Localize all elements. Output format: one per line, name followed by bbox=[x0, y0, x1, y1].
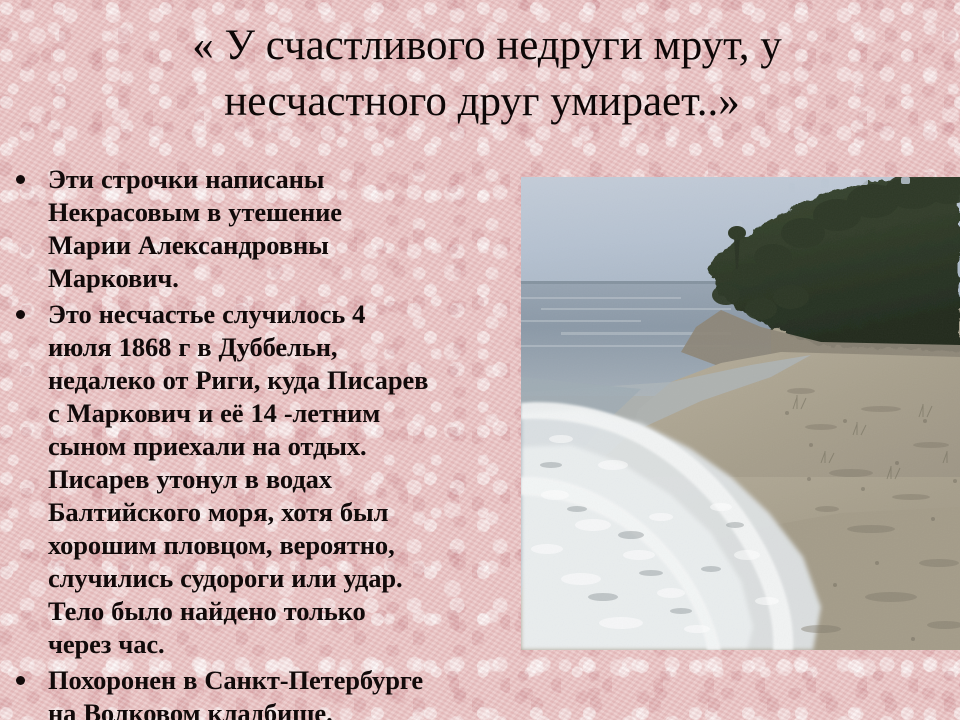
beach-photograph-image bbox=[521, 177, 960, 650]
slide-title: « У счастливого недруги мрут, у несчастн… bbox=[38, 18, 922, 130]
list-item-line: Писарев утонул в водах bbox=[48, 463, 514, 496]
bullet-list: Эти строчки написаны Некрасовым в утешен… bbox=[8, 163, 514, 720]
list-item-line: сыном приехали на отдых. bbox=[48, 430, 514, 463]
list-item-line: случились судороги или удар. bbox=[48, 562, 514, 595]
list-item: Это несчастье случилось 4 июля 1868 г в … bbox=[8, 298, 514, 661]
list-item-line: Эти строчки написаны bbox=[48, 163, 514, 196]
list-item-line: Балтийского моря, хотя был bbox=[48, 496, 514, 529]
list-item-line: Это несчастье случилось 4 bbox=[48, 298, 514, 331]
list-item: Эти строчки написаны Некрасовым в утешен… bbox=[8, 163, 514, 295]
list-item-line: июля 1868 г в Дуббельн, bbox=[48, 331, 514, 364]
list-item-line: Маркович. bbox=[48, 262, 514, 295]
bullet-dot-icon bbox=[16, 310, 25, 319]
list-item-line: недалеко от Риги, куда Писарев bbox=[48, 364, 514, 397]
list-item: Похоронен в Санкт-Петербурге на Волковом… bbox=[8, 664, 514, 720]
beach-photograph bbox=[521, 177, 960, 650]
bullet-dot-icon bbox=[16, 676, 25, 685]
list-item-line: Тело было найдено только bbox=[48, 595, 514, 628]
list-item-line: через час. bbox=[48, 628, 514, 661]
list-item-line: на Волковом кладбище. bbox=[48, 697, 514, 720]
title-line-1: « У счастливого недруги мрут, у bbox=[38, 18, 922, 74]
presentation-slide: « У счастливого недруги мрут, у несчастн… bbox=[0, 0, 960, 720]
list-item-line: Похоронен в Санкт-Петербурге bbox=[48, 664, 514, 697]
list-item-line: хорошим пловцом, вероятно, bbox=[48, 529, 514, 562]
title-line-2: несчастного друг умирает..» bbox=[38, 74, 922, 130]
list-item-line: Некрасовым в утешение bbox=[48, 196, 514, 229]
list-item-line: с Маркович и её 14 -летним bbox=[48, 397, 514, 430]
bullet-dot-icon bbox=[16, 175, 25, 184]
list-item-line: Марии Александровны bbox=[48, 229, 514, 262]
